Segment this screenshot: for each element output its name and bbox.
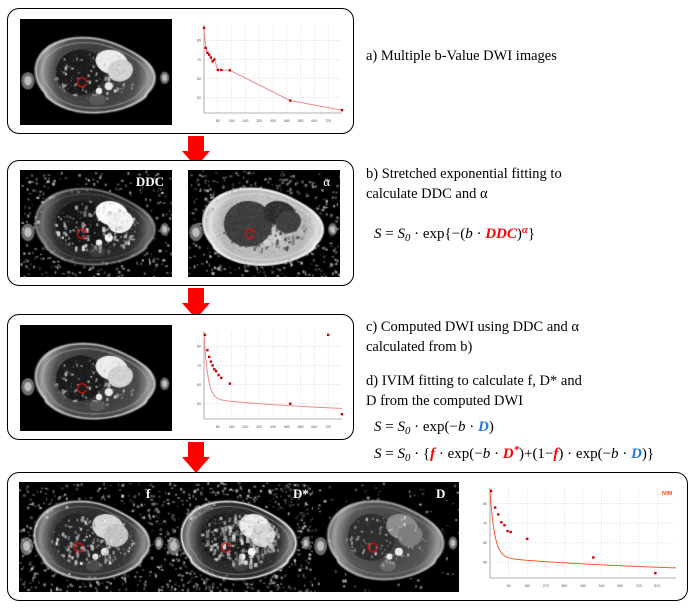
eq-d2-D: D <box>631 446 642 462</box>
svg-text:400: 400 <box>270 425 276 429</box>
chart-d: 9018027036045054063072081080706050IVIM <box>470 482 682 592</box>
eq-d2-one-minus: (1− <box>532 446 553 462</box>
svg-text:640: 640 <box>311 119 317 123</box>
eq-d1-D: D <box>478 419 489 435</box>
eq-d2-paren: ) <box>558 446 563 462</box>
eq-b-equals: = <box>385 226 393 242</box>
caption-d-line1: d) IVIM fitting to calculate f, D* and <box>366 372 686 392</box>
svg-text:60: 60 <box>197 383 201 387</box>
caption-c: c) Computed DWI using DDC and α calculat… <box>366 318 686 357</box>
svg-text:180: 180 <box>524 584 530 588</box>
svg-text:810: 810 <box>654 584 660 588</box>
eq-d2-brace-open: { <box>423 446 430 462</box>
mri-label-alpha: α <box>323 175 330 188</box>
eq-d1-s0: S <box>397 419 405 435</box>
eq-d1-lhs: S <box>374 419 382 435</box>
svg-text:70: 70 <box>197 58 201 62</box>
svg-text:720: 720 <box>325 119 331 123</box>
eq-d2-dot3: · <box>494 446 499 462</box>
svg-text:480: 480 <box>284 425 290 429</box>
mri-ddc-map: DDC <box>20 170 172 277</box>
svg-text:360: 360 <box>561 584 567 588</box>
caption-c-line1: c) Computed DWI using DDC and α <box>366 318 686 338</box>
mri-label-f: f <box>146 487 150 500</box>
svg-text:160: 160 <box>229 119 235 123</box>
svg-text:60: 60 <box>483 541 487 545</box>
eq-b-b: b <box>465 226 473 242</box>
svg-text:80: 80 <box>216 425 220 429</box>
panel-b: DDC α <box>7 160 354 286</box>
eq-d2-dot2: · <box>439 446 444 462</box>
mri-label-d: D <box>436 487 445 500</box>
chart-a: 8016024032040048056064072080706050 <box>184 19 348 127</box>
mri-dwi-source <box>20 19 172 125</box>
caption-b-line1: b) Stretched exponential fitting to <box>366 165 686 185</box>
svg-text:80: 80 <box>216 119 220 123</box>
eq-b-dot1: · <box>414 226 419 242</box>
svg-text:400: 400 <box>270 119 276 123</box>
caption-a-text: a) Multiple b-Value DWI images <box>366 48 557 64</box>
eq-d2-lhs: S <box>374 446 382 462</box>
caption-c-line2: calculated from b) <box>366 338 686 358</box>
eq-d2-b: b <box>483 446 491 462</box>
mri-label-dstar: D* <box>293 487 309 500</box>
svg-text:720: 720 <box>325 425 331 429</box>
mri-param-maps-strip: f D* D <box>19 482 459 592</box>
eq-d2-f: f <box>430 446 435 462</box>
svg-text:560: 560 <box>298 425 304 429</box>
svg-text:720: 720 <box>636 584 642 588</box>
eq-b-exp: exp <box>423 226 445 242</box>
svg-text:240: 240 <box>242 425 248 429</box>
eq-b-brace-close: } <box>528 226 535 242</box>
eq-d2-brace-close: } <box>647 446 654 462</box>
eq-d1-exp: exp <box>423 419 445 435</box>
eq-d2-equals: = <box>385 446 393 462</box>
svg-text:70: 70 <box>483 522 487 526</box>
eq-d1-s0-sub: 0 <box>405 425 410 437</box>
svg-text:560: 560 <box>298 119 304 123</box>
figure-root: 8016024032040048056064072080706050 a) Mu… <box>0 0 695 609</box>
panel-c: 8016024032040048056064072080706050 <box>7 314 354 440</box>
eq-d2-dot4: · <box>567 446 572 462</box>
eq-d1-dot2: · <box>469 419 474 435</box>
eq-d2-b2: b <box>611 446 619 462</box>
caption-d: d) IVIM fitting to calculate f, D* and D… <box>366 372 686 411</box>
eq-b-open: {−( <box>445 226 466 242</box>
eq-d1-open: (− <box>445 419 458 435</box>
svg-text:50: 50 <box>483 561 487 565</box>
svg-text:80: 80 <box>197 345 201 349</box>
svg-text:270: 270 <box>543 584 549 588</box>
mri-alpha-map: α <box>188 170 340 277</box>
svg-text:640: 640 <box>311 425 317 429</box>
equation-stretched-exponential: S = S0 · exp{−(b · DDC)α} <box>374 222 535 246</box>
svg-text:450: 450 <box>580 584 586 588</box>
svg-text:480: 480 <box>284 119 290 123</box>
svg-text:50: 50 <box>197 402 201 406</box>
svg-text:160: 160 <box>229 425 235 429</box>
caption-b: b) Stretched exponential fitting to calc… <box>366 165 686 204</box>
eq-d2-exp: exp <box>448 446 470 462</box>
panel-d: f D* D 901802703604505406307208108070605… <box>7 472 688 601</box>
svg-text:IVIM: IVIM <box>662 491 672 497</box>
eq-d2-open: (− <box>469 446 482 462</box>
equation-ivim-biexponential: S = S0 · {f · exp(−b · D*)+(1−f) · exp(−… <box>374 442 654 466</box>
eq-d2-open2: (− <box>598 446 611 462</box>
svg-text:80: 80 <box>483 502 487 506</box>
eq-b-dot2: · <box>476 226 481 242</box>
eq-d1-equals: = <box>385 419 393 435</box>
svg-text:240: 240 <box>242 119 248 123</box>
eq-d2-exp2: exp <box>576 446 598 462</box>
chart-c: 8016024032040048056064072080706050 <box>184 325 348 433</box>
svg-text:60: 60 <box>197 77 201 81</box>
eq-d2-dot5: · <box>622 446 627 462</box>
eq-d1-close: ) <box>489 419 494 435</box>
eq-d2-dot: · <box>414 446 419 462</box>
eq-d2-s0-sub: 0 <box>405 452 410 464</box>
eq-d2-s0: S <box>397 446 405 462</box>
eq-d1-b: b <box>458 419 466 435</box>
svg-text:70: 70 <box>197 364 201 368</box>
svg-text:320: 320 <box>256 425 262 429</box>
svg-text:540: 540 <box>599 584 605 588</box>
equation-mono-exponential: S = S0 · exp(−b · D) <box>374 416 494 439</box>
mri-label-ddc: DDC <box>136 175 164 188</box>
eq-b-s0: S <box>397 226 405 242</box>
svg-text:320: 320 <box>256 119 262 123</box>
eq-d2-Dstar: D <box>503 446 514 462</box>
mri-computed-dwi <box>20 325 172 431</box>
panel-a: 8016024032040048056064072080706050 <box>7 8 354 134</box>
svg-text:90: 90 <box>507 584 511 588</box>
caption-d-line2: D from the computed DWI <box>366 392 686 412</box>
eq-b-ddc: DDC <box>485 226 517 242</box>
svg-text:50: 50 <box>197 96 201 100</box>
caption-a: a) Multiple b-Value DWI images <box>366 47 686 67</box>
eq-b-lhs: S <box>374 226 382 242</box>
svg-text:630: 630 <box>617 584 623 588</box>
svg-text:80: 80 <box>197 39 201 43</box>
eq-d1-dot: · <box>414 419 419 435</box>
eq-b-s0-sub: 0 <box>405 232 410 244</box>
caption-b-line2: calculate DDC and α <box>366 185 686 205</box>
